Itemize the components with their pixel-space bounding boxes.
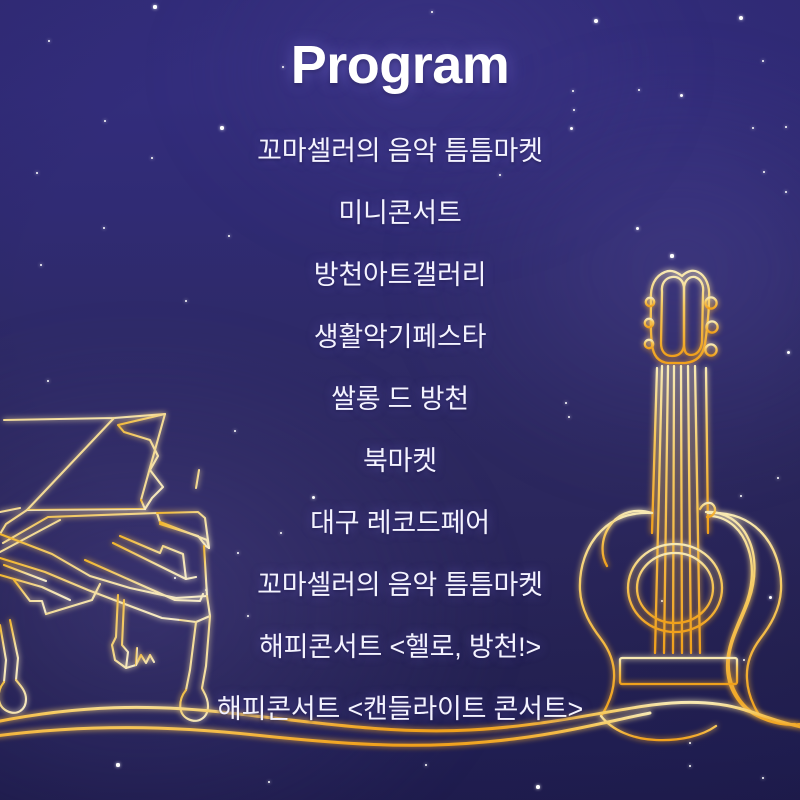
- program-poster: Program 꼬마셀러의 음악 틈틈마켓 미니콘서트 방천아트갤러리 생활악기…: [0, 0, 800, 800]
- page-title: Program: [0, 34, 800, 96]
- list-item: 해피콘서트 <캔들라이트 콘서트>: [0, 678, 800, 740]
- list-item: 쌀롱 드 방천: [0, 368, 800, 430]
- list-item: 꼬마셀러의 음악 틈틈마켓: [0, 120, 800, 182]
- poster-content: Program 꼬마셀러의 음악 틈틈마켓 미니콘서트 방천아트갤러리 생활악기…: [0, 0, 800, 800]
- list-item: 대구 레코드페어: [0, 492, 800, 554]
- program-list: 꼬마셀러의 음악 틈틈마켓 미니콘서트 방천아트갤러리 생활악기페스타 쌀롱 드…: [0, 120, 800, 740]
- list-item: 꼬마셀러의 음악 틈틈마켓: [0, 554, 800, 616]
- list-item: 미니콘서트: [0, 182, 800, 244]
- list-item: 방천아트갤러리: [0, 244, 800, 306]
- list-item: 생활악기페스타: [0, 306, 800, 368]
- list-item: 해피콘서트 <헬로, 방천!>: [0, 616, 800, 678]
- list-item: 북마켓: [0, 430, 800, 492]
